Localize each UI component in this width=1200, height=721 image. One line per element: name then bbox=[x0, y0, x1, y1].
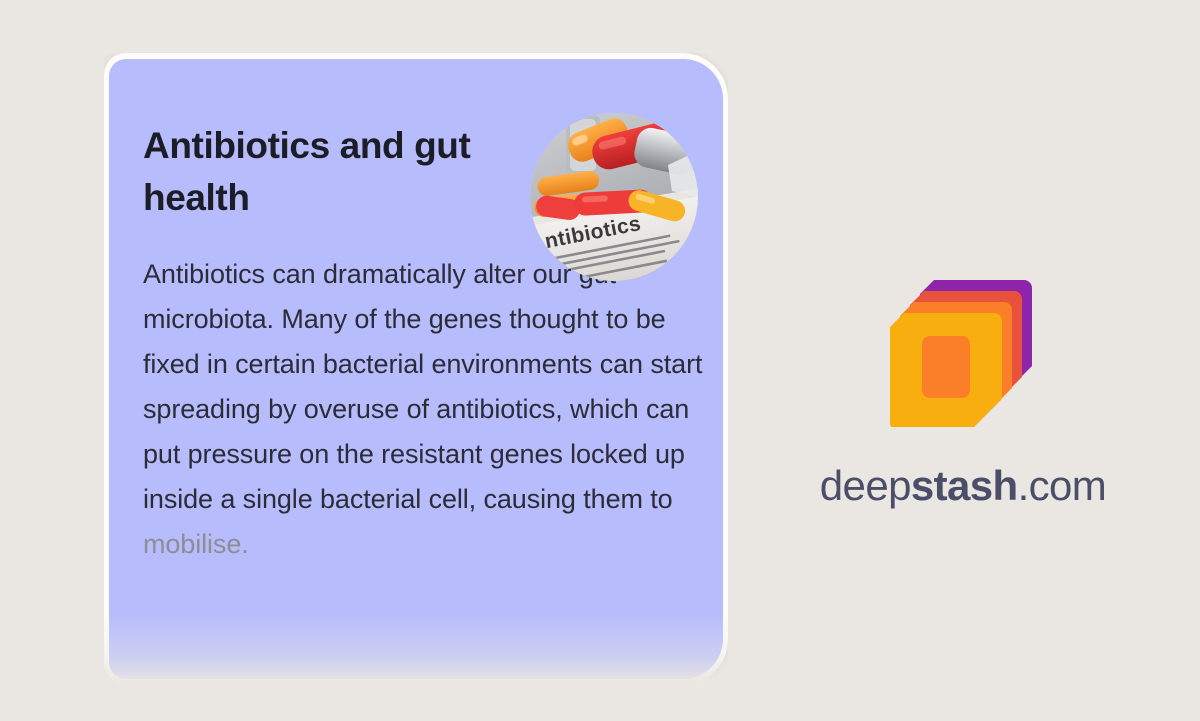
article-thumbnail[interactable]: ntibiotics bbox=[530, 113, 698, 281]
card-title: Antibiotics and gut health bbox=[143, 120, 543, 224]
card-surface[interactable]: ntibiotics bbox=[109, 59, 723, 679]
brand-name-light: deep bbox=[820, 462, 911, 509]
brand-block: deepstash.com bbox=[812, 272, 1114, 510]
brand-name-bold: stash bbox=[911, 462, 1018, 509]
brand-wordmark: deepstash.com bbox=[812, 427, 1114, 510]
card-body-text: Antibiotics can dramatically alter our g… bbox=[143, 259, 702, 514]
deepstash-stacked-cubes-logo bbox=[888, 272, 1038, 427]
brand-name-tld: .com bbox=[1018, 462, 1107, 509]
antibiotics-pills-photo: ntibiotics bbox=[530, 113, 698, 281]
card-body-faded-tail: mobilise. bbox=[143, 529, 249, 559]
idea-card[interactable]: ntibiotics bbox=[104, 53, 728, 685]
screenshot-root: ntibiotics bbox=[0, 0, 1200, 721]
